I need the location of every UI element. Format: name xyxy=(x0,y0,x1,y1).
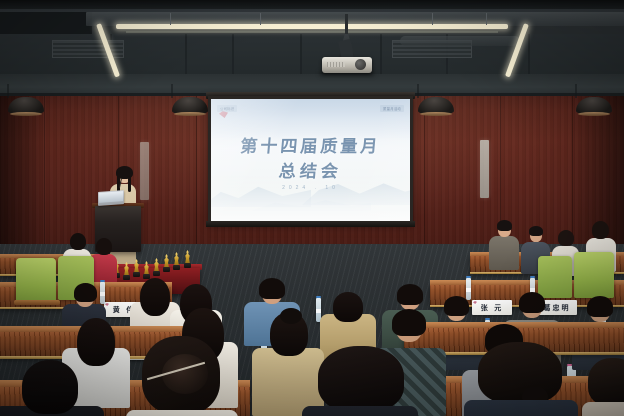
slide-title-line-1: 第十四届质量月 xyxy=(211,132,410,157)
trophy-base xyxy=(184,263,191,268)
attendee-hair xyxy=(478,342,562,404)
attendee-hair xyxy=(259,278,285,299)
bottle-cap xyxy=(100,280,105,282)
wall-panel-seam xyxy=(424,96,425,248)
chair[interactable] xyxy=(574,252,614,298)
ceiling-seam xyxy=(380,34,382,74)
lamp-rim xyxy=(420,112,452,116)
attendee-hair-long xyxy=(140,278,170,316)
attendee-hair xyxy=(592,221,609,239)
bottle-label xyxy=(466,288,471,292)
bottle-cap xyxy=(485,318,490,320)
attendee-hair xyxy=(74,283,97,302)
nameplate-corner-mark-icon xyxy=(105,303,109,306)
slide-logo-right: 质量月活动 xyxy=(380,105,404,112)
attendee-hair xyxy=(392,309,426,336)
screen-bottom-casing xyxy=(206,221,415,227)
chair-arm xyxy=(14,300,60,305)
lamp-cord xyxy=(576,84,577,98)
attendee-hair xyxy=(444,296,469,316)
wall-shadow-left xyxy=(0,96,46,248)
chair[interactable] xyxy=(16,258,56,304)
ceiling-dark-recess xyxy=(0,12,92,34)
projector-vent xyxy=(327,62,345,67)
chair[interactable] xyxy=(538,256,572,298)
wall-light-strip-left xyxy=(140,142,149,200)
trapezoid-led-strip xyxy=(116,24,508,29)
attendee-hair xyxy=(519,292,545,313)
attendee-hair xyxy=(318,346,404,412)
attendee-hair xyxy=(22,360,78,414)
attendee-body xyxy=(126,410,238,416)
slide-logo-left: 公司标识 xyxy=(217,105,237,112)
bottle-cap xyxy=(530,276,535,278)
nameplate-corner-mark-icon xyxy=(473,301,477,304)
ceiling-vent-left xyxy=(52,40,124,58)
wall-panel-seam xyxy=(196,96,197,248)
trophy-base xyxy=(163,267,170,272)
attendee-hair-long xyxy=(77,318,115,366)
attendee-hair xyxy=(497,220,512,231)
trophy-base xyxy=(133,272,140,277)
attendee-body xyxy=(489,236,519,270)
ceiling-seam xyxy=(232,34,234,74)
attendee-body xyxy=(582,402,624,416)
lamp-cord xyxy=(418,84,419,98)
led-fixture-housing xyxy=(126,31,498,33)
lamp-cord xyxy=(172,84,173,98)
bottle-label xyxy=(100,292,105,296)
trophy-base xyxy=(123,275,130,280)
nameplate-zhang-yuan: 张 元 xyxy=(472,300,512,315)
slide-date: 2024 . 10 xyxy=(211,185,410,191)
nameplate-text: 张 元 xyxy=(481,303,503,313)
wall-light-strip-right xyxy=(480,140,489,198)
projector-lens xyxy=(355,59,366,70)
ceiling xyxy=(0,0,624,96)
conference-hall-photo: 公司标识 质量月活动 第十四届质量月 总结会 2024 . 10 xyxy=(0,0,624,416)
lamp-rim xyxy=(578,112,610,116)
led-support-rod xyxy=(260,13,261,25)
bottle-cap xyxy=(316,296,321,298)
lamp-rim xyxy=(10,112,42,116)
lamp-cord xyxy=(8,84,9,98)
bottle-cap xyxy=(466,276,471,278)
attendee-body xyxy=(302,406,418,416)
laptop-screen xyxy=(99,191,123,203)
attendee-hair xyxy=(558,230,574,246)
bottle-label xyxy=(316,309,321,313)
led-support-rod xyxy=(432,13,433,25)
trophy-base xyxy=(153,271,160,276)
lamp-rim xyxy=(174,112,206,116)
attendee-hair xyxy=(587,296,613,317)
attendee-hair xyxy=(70,233,86,250)
trophy-base xyxy=(173,265,180,270)
attendee-hair-bun xyxy=(280,308,302,324)
podium-laptop xyxy=(98,190,124,206)
attendee-hair xyxy=(333,292,363,322)
nameplate-text: 葛忠明 xyxy=(544,303,571,313)
ceiling-seam xyxy=(185,34,187,74)
attendee-hair xyxy=(96,238,112,255)
ceiling-seam xyxy=(528,34,530,74)
attendee-hair xyxy=(588,358,624,406)
attendee-hair xyxy=(397,284,423,305)
attendee-body xyxy=(464,400,578,416)
water-bottle xyxy=(100,282,105,304)
water-bottle xyxy=(466,278,471,300)
ceiling-duct xyxy=(400,36,520,46)
speaker-hair-strand-right xyxy=(128,176,131,192)
projection-screen: 公司标识 质量月活动 第十四届质量月 总结会 2024 . 10 xyxy=(211,99,410,221)
attendee-hair xyxy=(529,226,543,236)
ceiling-seam xyxy=(300,34,302,74)
slide-title-line-2: 总结会 xyxy=(211,157,410,182)
led-support-rod xyxy=(170,13,171,25)
led-support-rod xyxy=(486,13,487,25)
